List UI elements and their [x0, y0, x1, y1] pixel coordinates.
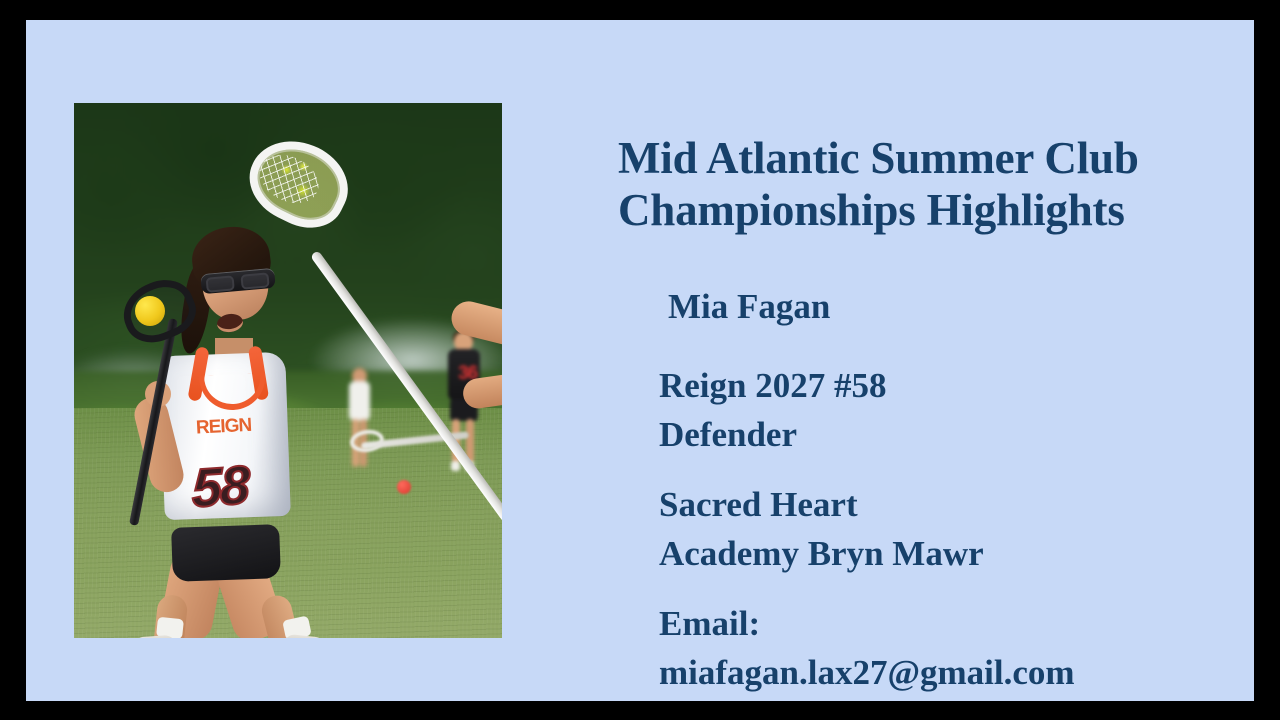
player-mouth	[216, 313, 244, 334]
text-column: Mid Atlantic Summer Club Championships H…	[618, 20, 1218, 701]
team-info: Reign 2027 #58 Defender	[659, 361, 1219, 459]
team-and-number: Reign 2027 #58	[659, 361, 1219, 410]
slide-frame: 36	[0, 0, 1280, 720]
lacrosse-ball-in-pocket	[135, 296, 165, 326]
school-name-line-2: Academy Bryn Mawr	[659, 529, 1219, 578]
player-jersey-number: 58	[192, 454, 248, 520]
main-player: REIGN 58	[74, 103, 502, 638]
player-shorts	[172, 524, 282, 582]
photo-scene: 36	[74, 103, 502, 638]
page-title: Mid Atlantic Summer Club Championships H…	[618, 132, 1218, 236]
player-position: Defender	[659, 410, 1219, 459]
page-title-line-2: Championships Highlights	[618, 184, 1218, 236]
slide-canvas: 36	[26, 20, 1254, 701]
player-jersey-logo: REIGN	[195, 414, 260, 439]
email-label: Email:	[659, 599, 1219, 648]
player-name: Mia Fagan	[668, 282, 1219, 331]
school-info: Sacred Heart Academy Bryn Mawr	[659, 480, 1219, 578]
email-info: Email: miafagan.lax27@gmail.com	[659, 599, 1219, 697]
player-action-photo: 36	[74, 103, 502, 638]
email-address[interactable]: miafagan.lax27@gmail.com	[659, 648, 1219, 697]
page-title-line-1: Mid Atlantic Summer Club	[618, 133, 1139, 183]
school-name-line-1: Sacred Heart	[659, 480, 1219, 529]
player-info-block: Mia Fagan Reign 2027 #58 Defender Sacred…	[659, 282, 1219, 697]
